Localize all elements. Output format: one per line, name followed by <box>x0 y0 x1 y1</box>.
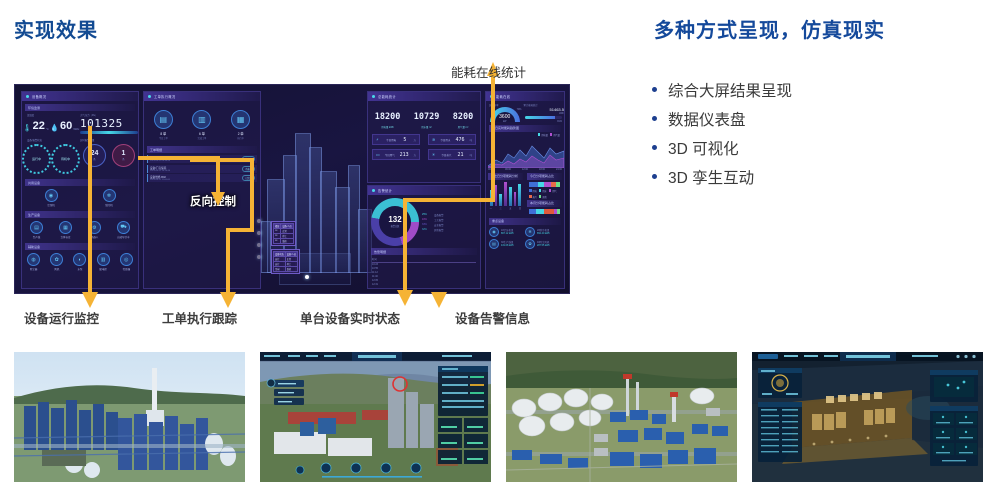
subsection-title: 辅助设备 <box>28 245 40 249</box>
energy-mini-card: ▭ 今日用气 213 方 <box>372 149 420 160</box>
donut-legend-item: 25% 设备报警 <box>422 213 480 217</box>
mini-label: 今日用水 <box>440 138 450 142</box>
device-tile[interactable]: ◍除尘器 <box>22 253 45 271</box>
caption-workorder-tracking: 工单执行跟踪 <box>162 308 237 327</box>
kpi-fault-count: 1 条 <box>112 144 135 167</box>
tooltip-cell: 维修 <box>281 239 293 244</box>
sensor-icon: ◎ <box>120 253 133 266</box>
axis-tick: 00:00 <box>488 168 494 171</box>
callout-arrow-alarm <box>431 292 447 308</box>
device-value: 431.08 kWh <box>501 244 514 247</box>
mini-label: 今日蒸汽 <box>441 153 451 157</box>
device-energy-row: ✿ 4#除尘风机 287.55 kWh <box>525 239 564 249</box>
progress-unit: kWh <box>523 112 564 115</box>
subsection-header: 今日分项能耗占比 <box>527 173 562 180</box>
energy-kpi: 8200 用气量 m³ <box>453 106 473 129</box>
tooltip-cell: 3F <box>274 239 281 244</box>
order-stat: ▤ 8 单 今日工单 <box>144 110 182 140</box>
device-label: 水泵 <box>77 267 82 271</box>
production-line-icon: ▤ <box>30 221 43 234</box>
bullet-icon <box>652 174 657 179</box>
panel-title: 工单执行概况 <box>154 94 176 99</box>
kpi-value: 24 <box>91 150 99 157</box>
group-label: 温湿度 <box>27 113 80 117</box>
device-tile[interactable]: ▦立体仓库 <box>51 221 80 239</box>
donut-legend-item: 10% 工艺报警 <box>422 218 480 222</box>
switchgear-icon: ▥ <box>97 253 110 266</box>
device-label: 除尘器 <box>30 267 38 271</box>
donut-value: 132 <box>388 216 401 224</box>
bullet-icon <box>652 116 657 121</box>
device-tile[interactable]: ▥配电柜 <box>92 253 115 271</box>
donut-label: 报警总数 <box>391 224 400 228</box>
device-value: 652.40 kWh <box>537 232 550 235</box>
city-tooltip: 楼层 设备/人员 1F 正常 2F 停工 3F 维修 <box>271 221 296 246</box>
subsection-header: 本月分项能耗占比 <box>527 200 562 207</box>
order-status-badge[interactable]: 执行中 <box>242 156 255 162</box>
table-row[interactable]: 设备维修-B02 2023-08-11 11:00:00 已完成 <box>147 174 257 182</box>
feature-list: 综合大屏结果呈现 数据仪表盘 3D 可视化 3D 孪生互动 <box>652 75 982 191</box>
energy-trend-area-chart <box>488 138 564 168</box>
slice-pct: 32% <box>422 228 434 231</box>
water-icon: ≋ <box>432 137 435 142</box>
subsection-header: 环境监测 <box>25 104 135 111</box>
stack-legend: 用电 用水 用气 蒸汽 其他 <box>529 189 560 199</box>
bullet-icon <box>652 87 657 92</box>
panel-work-orders: 工单执行概况 ▤ 8 单 今日工单 ▥ 6 单 完成工单 ▦ 2 单 执行中 工… <box>143 91 261 289</box>
legend-item: 用气量 <box>550 133 560 137</box>
trend-legend: 用电量 用气量 <box>490 133 560 137</box>
panel-energy-online: 能耗在线 实时功率 3600 kW 79% 累计能耗统计 51463.5 kWh <box>485 91 565 289</box>
table-row[interactable]: 设备巡检-A01 2023-08-11 09:30:00 执行中 <box>147 155 257 163</box>
device-label: 传感器 <box>123 267 131 271</box>
energy-kpi: 10729 用水量 m³ <box>414 106 440 129</box>
device-tile[interactable]: ⚙机器人 <box>80 221 109 239</box>
city-wireframe-3d: 楼层 设备/人员 1F 正常 2F 停工 3F 维修 设备状态 设备/人员 运行… <box>261 125 373 293</box>
panel-alarm-stats: 告警统计 132 报警总数 25% 设备报警 10% 工艺报警 <box>367 185 481 289</box>
mini-value: 5 <box>403 137 406 143</box>
fan-icon: ✿ <box>525 239 535 249</box>
group-label: 设备/报警状态 <box>27 138 80 142</box>
legend-item: 其他 <box>539 195 547 199</box>
kpi-unit: 条 <box>122 157 124 161</box>
group-label: 实时报警数量 <box>80 138 138 142</box>
kpi-value: 60 <box>60 121 72 132</box>
legend-item: 用电 <box>529 189 537 193</box>
device-value: 867.12 kWh <box>501 232 514 235</box>
bolt-icon: ⚡ <box>376 137 379 142</box>
kpi-label: 用水量 m³ <box>414 125 440 129</box>
slice-pct: 33% <box>422 223 434 226</box>
caption-device-alarm-info: 设备告警信息 <box>455 308 530 327</box>
mini-value: 476 <box>456 137 465 143</box>
legend-item: 用水 <box>539 189 547 193</box>
energy-kpi-row: 18200 用电量 kWh 10729 用水量 m³ 8200 用气量 m³ <box>368 101 480 129</box>
chiller-icon: ❄ <box>103 189 116 202</box>
order-stat: ▦ 2 单 执行中 <box>222 110 260 140</box>
stat-label: 今日工单 <box>159 136 168 140</box>
clipboard-icon: ▤ <box>154 110 173 129</box>
order-stat: ▥ 6 单 完成工单 <box>183 110 221 140</box>
device-label: 风机 <box>54 267 59 271</box>
kpi-humidity: 💧 60 %RH <box>50 121 79 132</box>
kpi-unit: °C <box>46 128 49 131</box>
mini-label: 今日用电 <box>386 138 396 142</box>
subsection-title: 告警明细 <box>374 250 386 254</box>
stat-label: 完成工单 <box>198 136 207 140</box>
production-line-icon: ▤ <box>489 239 499 249</box>
list-item: 综合大屏结果呈现 <box>652 75 982 104</box>
list-item: 3D 可视化 <box>652 133 982 162</box>
gallery-image-warehouse-night-platform[interactable] <box>752 352 983 482</box>
panel-header: 总能耗统计 <box>368 92 480 101</box>
mini-unit: 万 <box>414 138 416 142</box>
kpi-label: 用气量 m³ <box>453 125 473 129</box>
robot-icon: ⚙ <box>88 221 101 234</box>
device-tile[interactable]: ◉ 空压机 <box>22 189 80 207</box>
donut-center: 132 报警总数 <box>379 206 411 238</box>
callout-arrow-workorder <box>220 292 236 308</box>
order-status-badge[interactable]: 待执行 <box>242 166 255 172</box>
feature-label: 3D 孪生互动 <box>668 166 754 188</box>
tooltip-col: 设备/人员 <box>285 252 297 257</box>
subsection-header: 重点设备 <box>489 218 561 225</box>
feature-label: 数据仪表盘 <box>668 108 746 130</box>
subsection-header: 辅助设备 <box>25 243 135 250</box>
device-energy-row: ▤ 3#生产线组 431.08 kWh <box>486 239 525 249</box>
kpi-unit: 条 <box>93 157 95 161</box>
legend-item: 蒸汽 <box>529 195 537 199</box>
chiller-icon: ❄ <box>525 227 535 237</box>
callout-label-energy: 能耗在线统计 <box>451 62 526 81</box>
month-energy-stacked-bar <box>529 209 560 214</box>
list-item: 3D 孪生互动 <box>652 162 982 191</box>
order-time: 2023-08-11 09:30:00 <box>150 160 170 162</box>
order-time: 2023-08-11 10:15:00 <box>150 170 170 172</box>
bullet-icon <box>372 189 375 192</box>
steam-icon: ✳ <box>432 152 435 157</box>
gallery-image-chemical-plant[interactable] <box>14 352 245 482</box>
order-status-badge[interactable]: 已完成 <box>242 175 255 181</box>
pump-icon: ◐ <box>73 253 86 266</box>
axis-tick: 五 <box>509 206 511 210</box>
city-tooltip: 设备状态 设备/人员 运行 正常 运行 停工 空闲 维修 <box>271 249 300 274</box>
kpi-value: 10729 <box>414 112 440 122</box>
subsection-header: 生产设备 <box>25 211 135 218</box>
tooltip-col: 设备/人员 <box>281 224 293 229</box>
device-tile[interactable]: ◎传感器 <box>115 253 138 271</box>
progress-percent: 81% <box>523 120 562 123</box>
bullet-icon <box>490 95 493 98</box>
panel-header: 设备概况 <box>22 92 138 101</box>
mini-unit: 吨 <box>470 153 472 157</box>
mini-value: 21 <box>458 152 464 158</box>
subsection-header: 告警明细 <box>371 248 477 255</box>
slice-pct: 25% <box>422 213 434 216</box>
table-row: 12:31 <box>372 283 476 287</box>
device-energy-row: ❄ 2#制冷机组 652.40 kWh <box>525 227 564 237</box>
axis-tick: 24:00 <box>556 168 562 171</box>
axis-tick: 12:00 <box>522 168 528 171</box>
device-label: 立体仓库 <box>60 235 70 239</box>
compressor-icon: ◉ <box>489 227 499 237</box>
subsection-title: 重点设备 <box>492 219 504 223</box>
mini-unit: 吨 <box>470 138 472 142</box>
dust-collector-icon: ◍ <box>27 253 40 266</box>
device-tile[interactable]: ✿风机 <box>45 253 68 271</box>
subsection-title: 近七日分项能耗分析 <box>491 174 518 178</box>
compressor-icon: ◉ <box>45 189 58 202</box>
donut-legend-item: 33% 安全报警 <box>422 223 480 227</box>
progress-icon: ▦ <box>231 110 250 129</box>
subsection-title: 共用设备 <box>28 181 40 185</box>
gauge-label: 待机中 <box>61 157 70 161</box>
slice-label: 安全报警 <box>434 223 444 227</box>
subsection-header: 近七日分项能耗分析 <box>488 173 523 180</box>
panel-header: 能耗在线 <box>486 92 564 101</box>
device-label: 配电柜 <box>99 267 107 271</box>
weekly-energy-bar-chart <box>486 180 525 206</box>
page-title-left: 实现效果 <box>14 14 98 43</box>
kpi-alarm-count: 24 条 <box>83 144 106 167</box>
legend-item: 用电量 <box>538 133 548 137</box>
dashboard-screenshot: 楼层 设备/人员 1F 正常 2F 停工 3F 维修 设备状态 设备/人员 运行… <box>14 84 570 294</box>
caption-device-monitor: 设备运行监控 <box>24 308 99 327</box>
axis-tick: 一 <box>490 206 492 210</box>
device-value: 287.55 kWh <box>537 244 550 247</box>
donut-legend-item: 32% 其他报警 <box>422 228 480 232</box>
kpi-value: 18200 <box>375 112 401 122</box>
map-marker-dot[interactable] <box>305 275 309 279</box>
order-time: 2023-08-11 11:00:00 <box>150 179 170 181</box>
subsection-title: 工单明细 <box>150 148 162 152</box>
feature-label: 3D 可视化 <box>668 137 739 159</box>
kpi-label: 用电量 kWh <box>375 125 401 129</box>
alarm-donut-chart: 132 报警总数 <box>371 198 419 246</box>
panel-header: 告警统计 <box>368 186 480 195</box>
mini-value: 213 <box>400 152 409 158</box>
device-label: 空压机 <box>47 203 55 207</box>
device-tile[interactable]: ◐水泵 <box>68 253 91 271</box>
gauge-label: 运行中 <box>32 157 41 161</box>
droplet-icon: 💧 <box>50 124 59 132</box>
check-icon: ▥ <box>192 110 211 129</box>
agv-icon: ⛟ <box>117 221 130 234</box>
axis-tick: 18:00 <box>539 168 545 171</box>
bullet-icon <box>148 95 151 98</box>
device-label: 生产线 <box>33 235 41 239</box>
panel-title: 设备概况 <box>32 94 46 99</box>
kpi-value: 1 <box>122 150 126 157</box>
pressure-bar <box>80 131 138 134</box>
subsection-title: 本月分项能耗占比 <box>530 201 554 205</box>
feature-label: 综合大屏结果呈现 <box>668 79 792 101</box>
energy-kpi: 18200 用电量 kWh <box>375 106 401 129</box>
bullet-icon <box>372 95 375 98</box>
panel-title: 能耗在线 <box>496 94 510 99</box>
subsection-header: 今日实时能耗趋势图 <box>489 125 561 132</box>
gallery-image-cement-plant-twin[interactable] <box>260 352 491 482</box>
list-item: 数据仪表盘 <box>652 104 982 133</box>
tooltip-cell: 维修 <box>285 267 297 272</box>
fan-icon: ✿ <box>50 253 63 266</box>
kpi-temperature: 🌡 22 °C <box>23 121 49 132</box>
subsection-title: 环境监测 <box>28 106 40 110</box>
device-label: 机器人 <box>91 235 99 239</box>
panel-header: 工单执行概况 <box>144 92 260 101</box>
warehouse-icon: ▦ <box>59 221 72 234</box>
slice-pct: 10% <box>422 218 434 221</box>
overlay-label-reverse-control: 反向控制 <box>190 193 236 209</box>
device-tile[interactable]: ⛟自动导引车 <box>109 221 138 239</box>
panel-device-overview: 设备概况 环境监测 温湿度 🌡 22 °C 💧 60 %RH <box>21 91 139 289</box>
thermometer-icon: 🌡 <box>23 124 32 132</box>
device-energy-row: ◉ 1#空压机组 867.12 kWh <box>486 227 525 237</box>
slice-label: 其他报警 <box>434 228 444 232</box>
device-label: 制冷机 <box>105 203 113 207</box>
kpi-unit: %RH <box>73 128 79 131</box>
gauge-unit: kW <box>499 120 510 123</box>
stat-label: 执行中 <box>237 136 244 140</box>
page-title-right: 多种方式呈现，仿真现实 <box>654 14 885 43</box>
axis-tick: 06:00 <box>505 168 511 171</box>
callout-arrow-monitor <box>82 292 98 308</box>
slice-label: 设备报警 <box>434 213 444 217</box>
gauge-standby: 待机中 <box>51 144 80 174</box>
gas-icon: ▭ <box>376 152 380 157</box>
caption-device-realtime-state: 单台设备实时状态 <box>300 308 400 327</box>
axis-tick: 三 <box>499 206 501 210</box>
panel-energy-total: 总能耗统计 18200 用电量 kWh 10729 用水量 m³ 8200 用气… <box>367 91 481 183</box>
axis-tick: 日 <box>519 206 521 210</box>
energy-mini-card: ⚡ 今日用电 5 万 <box>372 134 420 145</box>
gauge-running: 运行中 <box>22 144 51 174</box>
device-tile[interactable]: ▤生产线 <box>22 221 51 239</box>
progress-bar <box>525 116 562 119</box>
mini-label: 今日用气 <box>385 153 395 157</box>
panel-title: 告警统计 <box>378 188 392 193</box>
gauge-percent: 79% <box>517 108 522 111</box>
kpi-value: 8200 <box>453 112 473 122</box>
bullet-icon <box>26 95 29 98</box>
subsection-header: 共用设备 <box>25 179 135 186</box>
today-energy-stacked-bar <box>529 182 560 187</box>
slice-label: 工艺报警 <box>434 218 444 222</box>
gallery-image-refinery-aerial[interactable] <box>506 352 737 482</box>
tooltip-col: 设备状态 <box>274 252 286 257</box>
subsection-title: 今日实时能耗趋势图 <box>492 126 519 130</box>
device-tile[interactable]: ❄ 制冷机 <box>80 189 138 207</box>
tooltip-cell: 空闲 <box>274 267 286 272</box>
subsection-title: 今日分项能耗占比 <box>530 174 554 178</box>
legend-item: 用气 <box>549 189 557 193</box>
table-row[interactable]: 设备/厂房保养 2023-08-11 10:15:00 待执行 <box>147 165 257 173</box>
panel-title: 总能耗统计 <box>378 94 396 99</box>
energy-mini-card: ✳ 今日蒸汽 21 吨 <box>428 149 476 160</box>
device-label: 自动导引车 <box>117 235 130 239</box>
bullet-icon <box>652 145 657 150</box>
energy-mini-card: ≋ 今日用水 476 吨 <box>428 134 476 145</box>
kpi-value: 22 <box>33 121 45 132</box>
mini-unit: 方 <box>414 153 416 157</box>
subsection-title: 生产设备 <box>28 213 40 217</box>
kpi-pressure-value: 101325 <box>80 117 138 130</box>
subsection-header: 工单明细 <box>147 146 257 153</box>
